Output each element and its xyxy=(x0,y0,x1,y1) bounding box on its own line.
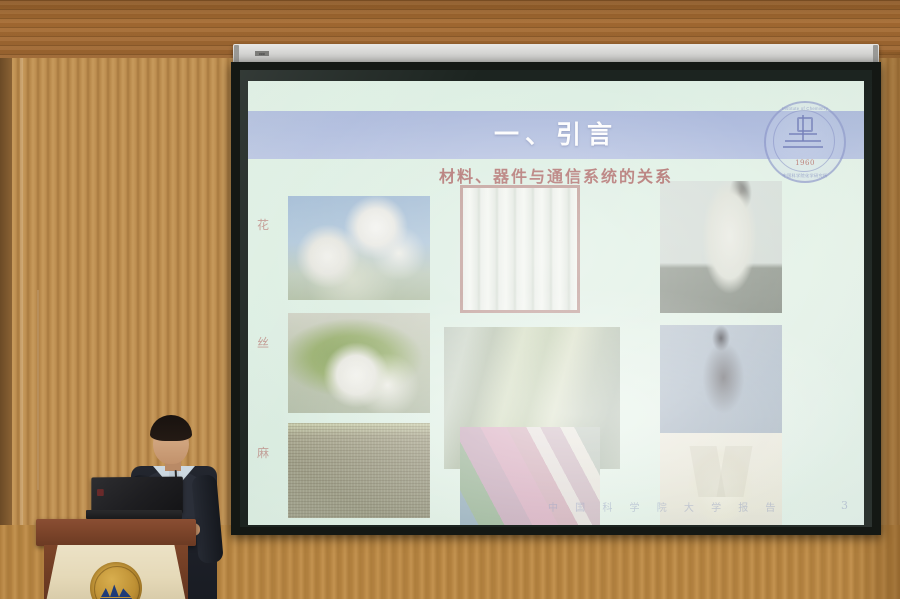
side-label-silk: 丝 xyxy=(254,334,272,351)
cotton-on-leaf-photo xyxy=(288,313,430,413)
projector-screen-housing[interactable]: ccc xyxy=(233,44,879,64)
wall-left-shadow xyxy=(0,52,12,599)
slide-footer-text: 中 国 科 学 院 大 学 报 告 xyxy=(548,499,782,514)
housing-endcap-right xyxy=(873,45,878,63)
lectern-top-surface xyxy=(36,519,196,546)
lectern xyxy=(36,519,196,599)
wall-panel-seam-secondary xyxy=(37,290,39,490)
university-emblem-icon: Institute of Chemistry 1960 中国科学院化学研究所 xyxy=(764,101,846,183)
emblem-arc-text-bottom: 中国科学院化学研究所 xyxy=(766,173,844,179)
slide-footer: 中 国 科 学 院 大 学 报 告 3 xyxy=(248,499,864,519)
lecture-hall-scene: ccc 一、引言 材料、器件与通信系统的关系 Institute of Chem… xyxy=(0,0,900,599)
side-label-cotton: 花 xyxy=(254,216,272,233)
projection-screen-surface: 一、引言 材料、器件与通信系统的关系 Institute of Chemistr… xyxy=(240,70,872,527)
cotton-field-photo xyxy=(288,196,430,300)
slide-page-number: 3 xyxy=(841,499,848,512)
yarn-rolls-photo xyxy=(460,185,580,313)
jacket-lapel-right xyxy=(717,446,753,497)
model-jacket-photo xyxy=(660,181,782,313)
side-label-hemp: 麻 xyxy=(254,444,272,461)
housing-label: ccc xyxy=(255,51,269,56)
laptop-logo-icon xyxy=(97,489,104,496)
wall-panel-seam xyxy=(20,52,23,599)
emblem-year: 1960 xyxy=(766,159,844,167)
emblem-glyph xyxy=(781,115,825,155)
presenter-laptop-base[interactable] xyxy=(86,510,182,519)
presentation-slide: 一、引言 材料、器件与通信系统的关系 Institute of Chemistr… xyxy=(248,81,864,525)
housing-endcap-left xyxy=(234,45,239,63)
emblem-arc-text-top: Institute of Chemistry xyxy=(766,106,844,111)
model-dark-top-photo xyxy=(660,325,782,435)
projection-screen-frame: 一、引言 材料、器件与通信系统的关系 Institute of Chemistr… xyxy=(231,62,881,535)
presenter-laptop-lid[interactable] xyxy=(91,477,183,514)
presenter-hair xyxy=(150,415,192,441)
